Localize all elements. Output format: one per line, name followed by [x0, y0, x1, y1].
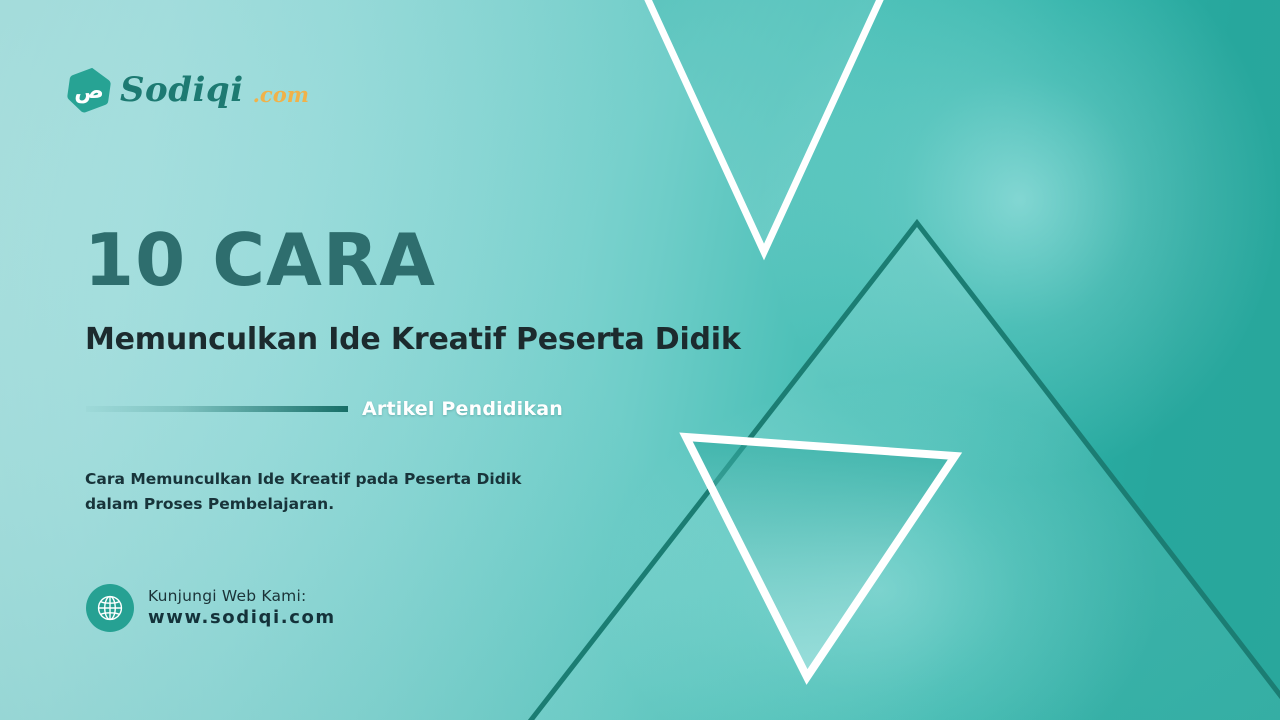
slide-canvas: ص Sodiqi .com 10 CARA Memunculkan Ide Kr…	[0, 0, 1280, 720]
category-row: Artikel Pendidikan	[86, 394, 586, 424]
svg-text:ص: ص	[74, 79, 104, 104]
website-url[interactable]: www.sodiqi.com	[148, 608, 336, 628]
visit-label: Kunjungi Web Kami:	[148, 588, 336, 605]
globe-icon	[95, 593, 125, 623]
website-cta[interactable]: Kunjungi Web Kami: www.sodiqi.com	[86, 584, 336, 632]
globe-badge	[86, 584, 134, 632]
brand-logo[interactable]: ص Sodiqi .com	[66, 66, 309, 114]
brand-name: Sodiqi	[120, 73, 244, 107]
page-title: 10 CARA	[84, 224, 436, 296]
website-texts: Kunjungi Web Kami: www.sodiqi.com	[148, 588, 336, 628]
category-badge: Artikel Pendidikan	[362, 398, 563, 420]
divider-line	[86, 406, 348, 412]
brand-tld: .com	[253, 84, 309, 105]
page-subtitle: Memunculkan Ide Kreatif Peserta Didik	[85, 325, 741, 355]
description-text: Cara Memunculkan Ide Kreatif pada Pesert…	[85, 467, 572, 517]
description-line-2: dalam Proses Pembelajaran.	[85, 492, 572, 517]
hexagon-arabic-sad-icon: ص	[66, 66, 112, 114]
description-line-1: Cara Memunculkan Ide Kreatif pada Pesert…	[85, 467, 572, 492]
